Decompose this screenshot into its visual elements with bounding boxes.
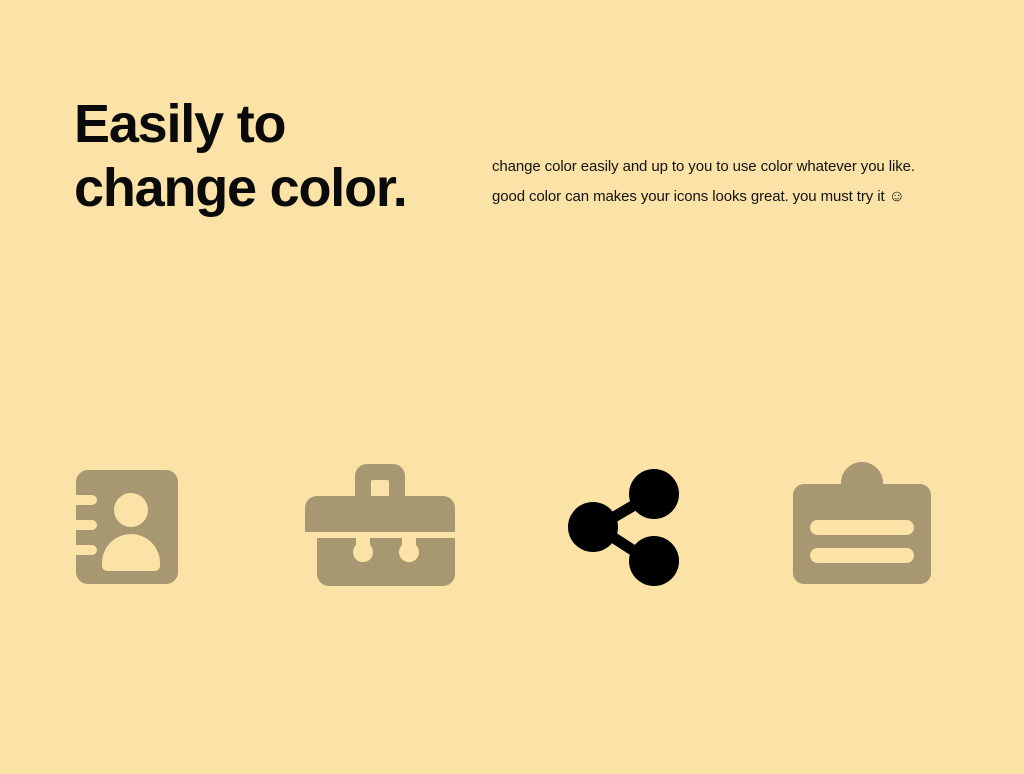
icon-item-share[interactable] — [541, 462, 721, 592]
address-book-icon — [46, 462, 226, 592]
description-line-2-text: good color can makes your icons looks gr… — [492, 188, 889, 205]
icon-item-address-book[interactable] — [46, 462, 226, 592]
slide-canvas: Easily to change color. change color eas… — [0, 0, 1024, 774]
description-line-2: good color can makes your icons looks gr… — [492, 182, 982, 212]
page-title: Easily to change color. — [74, 92, 474, 220]
icon-showcase-row — [0, 462, 1024, 592]
clipboard-icon — [785, 462, 965, 592]
icon-item-clipboard[interactable] — [785, 462, 965, 592]
briefcase-icon — [293, 462, 473, 592]
description-text: change color easily and up to you to use… — [492, 152, 982, 212]
share-icon — [541, 462, 721, 592]
smiley-face-icon: ☺ — [889, 188, 905, 205]
icon-item-briefcase[interactable] — [293, 462, 473, 592]
description-line-1: change color easily and up to you to use… — [492, 152, 982, 182]
